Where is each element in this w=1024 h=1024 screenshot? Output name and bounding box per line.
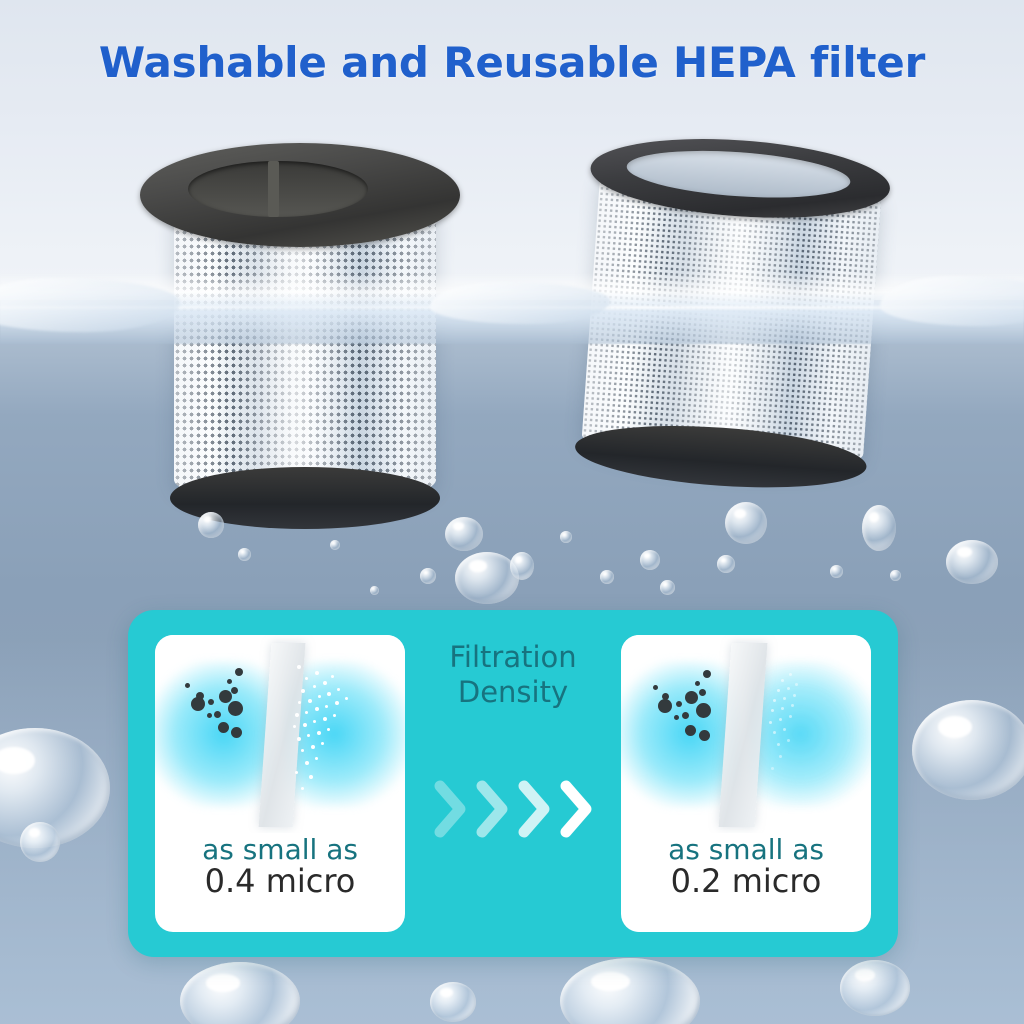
passed-particle [323, 717, 327, 721]
water-splash-mid [430, 282, 610, 324]
chevron-right-icon [430, 778, 470, 840]
passed-particle [777, 743, 780, 746]
filtration-density-line2: Density [418, 675, 608, 710]
passed-particle [313, 685, 316, 688]
blocked-particle [695, 681, 700, 686]
passed-particle [295, 771, 298, 774]
blocked-particle [682, 712, 689, 719]
passed-particle [345, 697, 348, 700]
passed-particle [313, 720, 316, 723]
filter-cap-crossbar-left [268, 161, 279, 217]
chevron-right-icon [472, 778, 512, 840]
air-bubble [660, 580, 675, 595]
air-bubble [717, 555, 735, 573]
airflow-glow-outlet [749, 661, 871, 807]
passed-particle [327, 692, 331, 696]
passed-particle [307, 734, 310, 737]
air-bubble [600, 570, 614, 584]
air-bubble [370, 586, 379, 595]
blocked-particle [185, 683, 190, 688]
air-bubble [862, 505, 896, 551]
passed-particle [333, 714, 336, 717]
blocked-particle [653, 685, 658, 690]
passed-particle [298, 701, 301, 704]
passed-particle [337, 688, 340, 691]
air-bubble [560, 531, 572, 543]
passed-particle [777, 689, 780, 692]
passed-particle [781, 707, 784, 710]
blocked-particle [699, 689, 706, 696]
passed-particle [791, 704, 794, 707]
passed-particle [305, 677, 308, 680]
passed-particle [297, 737, 301, 741]
passed-particle [771, 709, 774, 712]
blocked-particle [699, 730, 710, 741]
air-bubble [840, 960, 910, 1016]
filtration-diagram-upgraded [621, 635, 871, 833]
card-small-label: as small as [155, 835, 405, 864]
progress-chevrons [423, 770, 603, 848]
passed-particle [295, 713, 299, 717]
passed-particle [773, 731, 776, 734]
passed-particle [789, 715, 792, 718]
passed-particle [787, 687, 790, 690]
air-bubble [830, 565, 843, 578]
filtration-comparison-panel: as small as 0.4 micro Filtration Density [128, 610, 898, 957]
air-bubble [198, 512, 224, 538]
chevron-right-icon [514, 778, 554, 840]
filtration-density-title: Filtration Density [418, 640, 608, 711]
passed-particle [309, 775, 313, 779]
passed-particle [301, 749, 304, 752]
comparison-card-standard: as small as 0.4 micro [155, 635, 405, 932]
blocked-particle [658, 699, 672, 713]
airflow-glow-inlet [155, 661, 273, 807]
passed-particle [781, 679, 784, 682]
blocked-particle [218, 722, 229, 733]
blocked-particle [674, 715, 679, 720]
card-labels-standard: as small as 0.4 micro [155, 835, 405, 900]
air-bubble [430, 982, 476, 1022]
card-micro-label: 0.2 micro [621, 864, 871, 900]
blocked-particle [231, 687, 238, 694]
blocked-particle [703, 670, 711, 678]
air-bubble [725, 502, 767, 544]
passed-particle [331, 675, 334, 678]
air-bubble [510, 552, 534, 580]
air-bubble [420, 568, 436, 584]
card-labels-upgraded: as small as 0.2 micro [621, 835, 871, 900]
passed-particle [321, 742, 324, 745]
passed-particle [297, 665, 301, 669]
passed-particle [773, 699, 776, 702]
chevron-right-icon [556, 778, 596, 840]
air-bubble [330, 540, 340, 550]
blocked-particle [228, 701, 243, 716]
page-title: Washable and Reusable HEPA filter [0, 38, 1024, 87]
air-bubble [946, 540, 998, 584]
passed-particle [779, 755, 782, 758]
passed-particle [318, 695, 321, 698]
blocked-particle [685, 691, 698, 704]
passed-particle [789, 673, 792, 676]
blocked-particle [214, 711, 221, 718]
water-splash-right [880, 276, 1024, 326]
passed-particle [305, 761, 309, 765]
passed-particle [303, 723, 307, 727]
blocked-particle [208, 699, 214, 705]
card-micro-label: 0.4 micro [155, 864, 405, 900]
passed-particle [315, 757, 318, 760]
blocked-particle [191, 697, 205, 711]
passed-particle [783, 728, 786, 731]
filtration-density-line1: Filtration [418, 640, 608, 675]
blocked-particle [676, 701, 682, 707]
blocked-particle [231, 727, 242, 738]
air-bubble [912, 700, 1024, 800]
blocked-particle [219, 690, 232, 703]
air-bubble [640, 550, 660, 570]
passed-particle [301, 787, 304, 790]
product-feature-image: Washable and Reusable HEPA filter [0, 0, 1024, 1024]
passed-particle [315, 671, 319, 675]
air-bubble [455, 552, 519, 604]
air-bubble [20, 822, 60, 862]
comparison-card-upgraded: as small as 0.2 micro [621, 635, 871, 932]
passed-particle [293, 725, 296, 728]
passed-particle [795, 683, 798, 686]
passed-particle [793, 694, 796, 697]
blocked-particle [227, 679, 232, 684]
filtration-diagram-standard [155, 635, 405, 833]
passed-particle [783, 697, 786, 700]
air-bubble [445, 517, 483, 551]
passed-particle [771, 767, 774, 770]
passed-particle [779, 718, 782, 721]
passed-particle [311, 745, 315, 749]
passed-particle [317, 731, 321, 735]
passed-particle [787, 739, 790, 742]
passed-particle [301, 689, 305, 693]
passed-particle [308, 699, 312, 703]
blocked-particle [685, 725, 696, 736]
blocked-particle [207, 713, 212, 718]
passed-particle [315, 707, 319, 711]
blocked-particle [235, 668, 243, 676]
passed-particle [327, 728, 330, 731]
passed-particle [305, 711, 308, 714]
passed-particle [769, 721, 772, 724]
card-small-label: as small as [621, 835, 871, 864]
air-bubble [238, 548, 251, 561]
air-bubble [890, 570, 901, 581]
passed-particle [325, 705, 328, 708]
blocked-particle [696, 703, 711, 718]
passed-particle [323, 681, 327, 685]
passed-particle [335, 701, 339, 705]
